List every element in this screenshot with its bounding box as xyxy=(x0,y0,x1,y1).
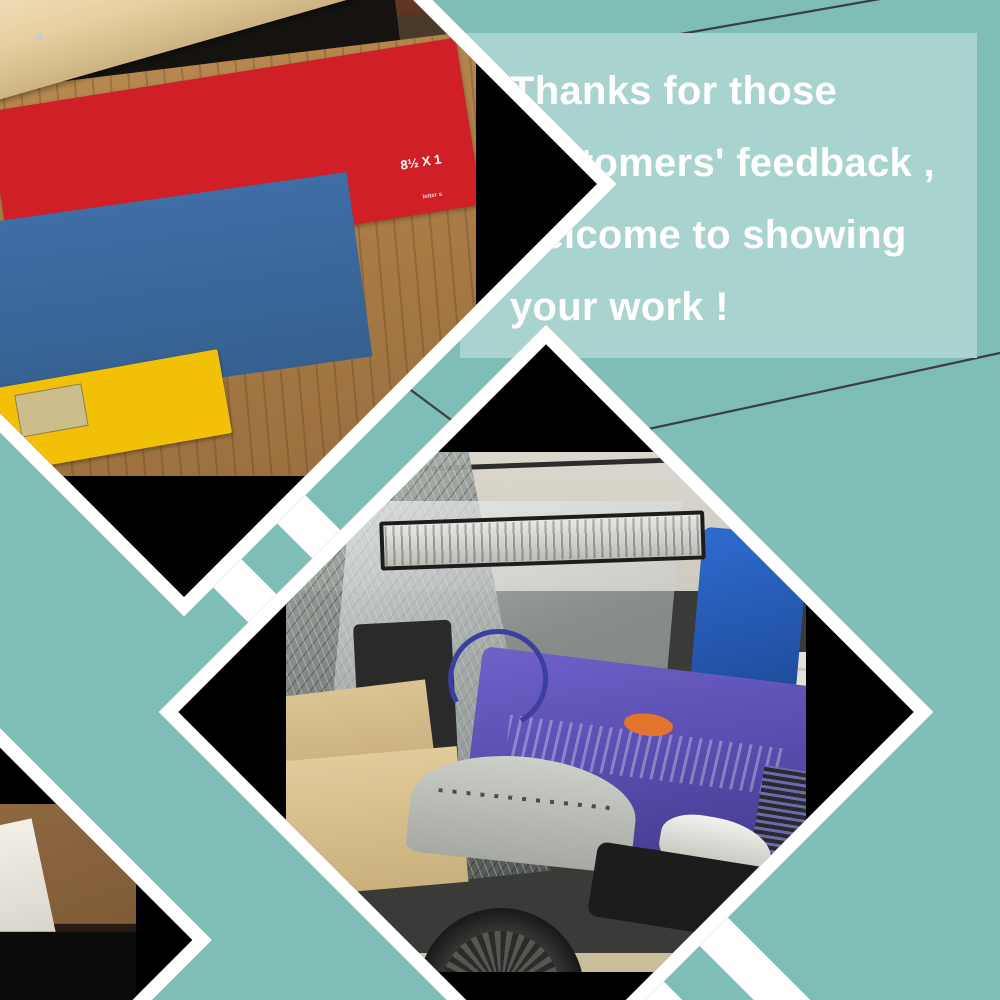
headline-line-4: your work ! xyxy=(510,271,980,343)
photo-utv-image xyxy=(286,452,806,972)
package-size-label: 8½ X 1 xyxy=(400,152,443,173)
package-sub-label: letter s xyxy=(422,192,442,201)
photo-workbench-image: 8½ X 1 letter s xyxy=(0,0,476,476)
photo-corner-scrap-image xyxy=(0,804,136,1000)
photo-tile-corner-scrap xyxy=(0,728,212,1000)
collage-poster: Thanks for those customersʹ feedback , w… xyxy=(0,0,1000,1000)
headline-line-1: Thanks for those xyxy=(510,55,980,127)
